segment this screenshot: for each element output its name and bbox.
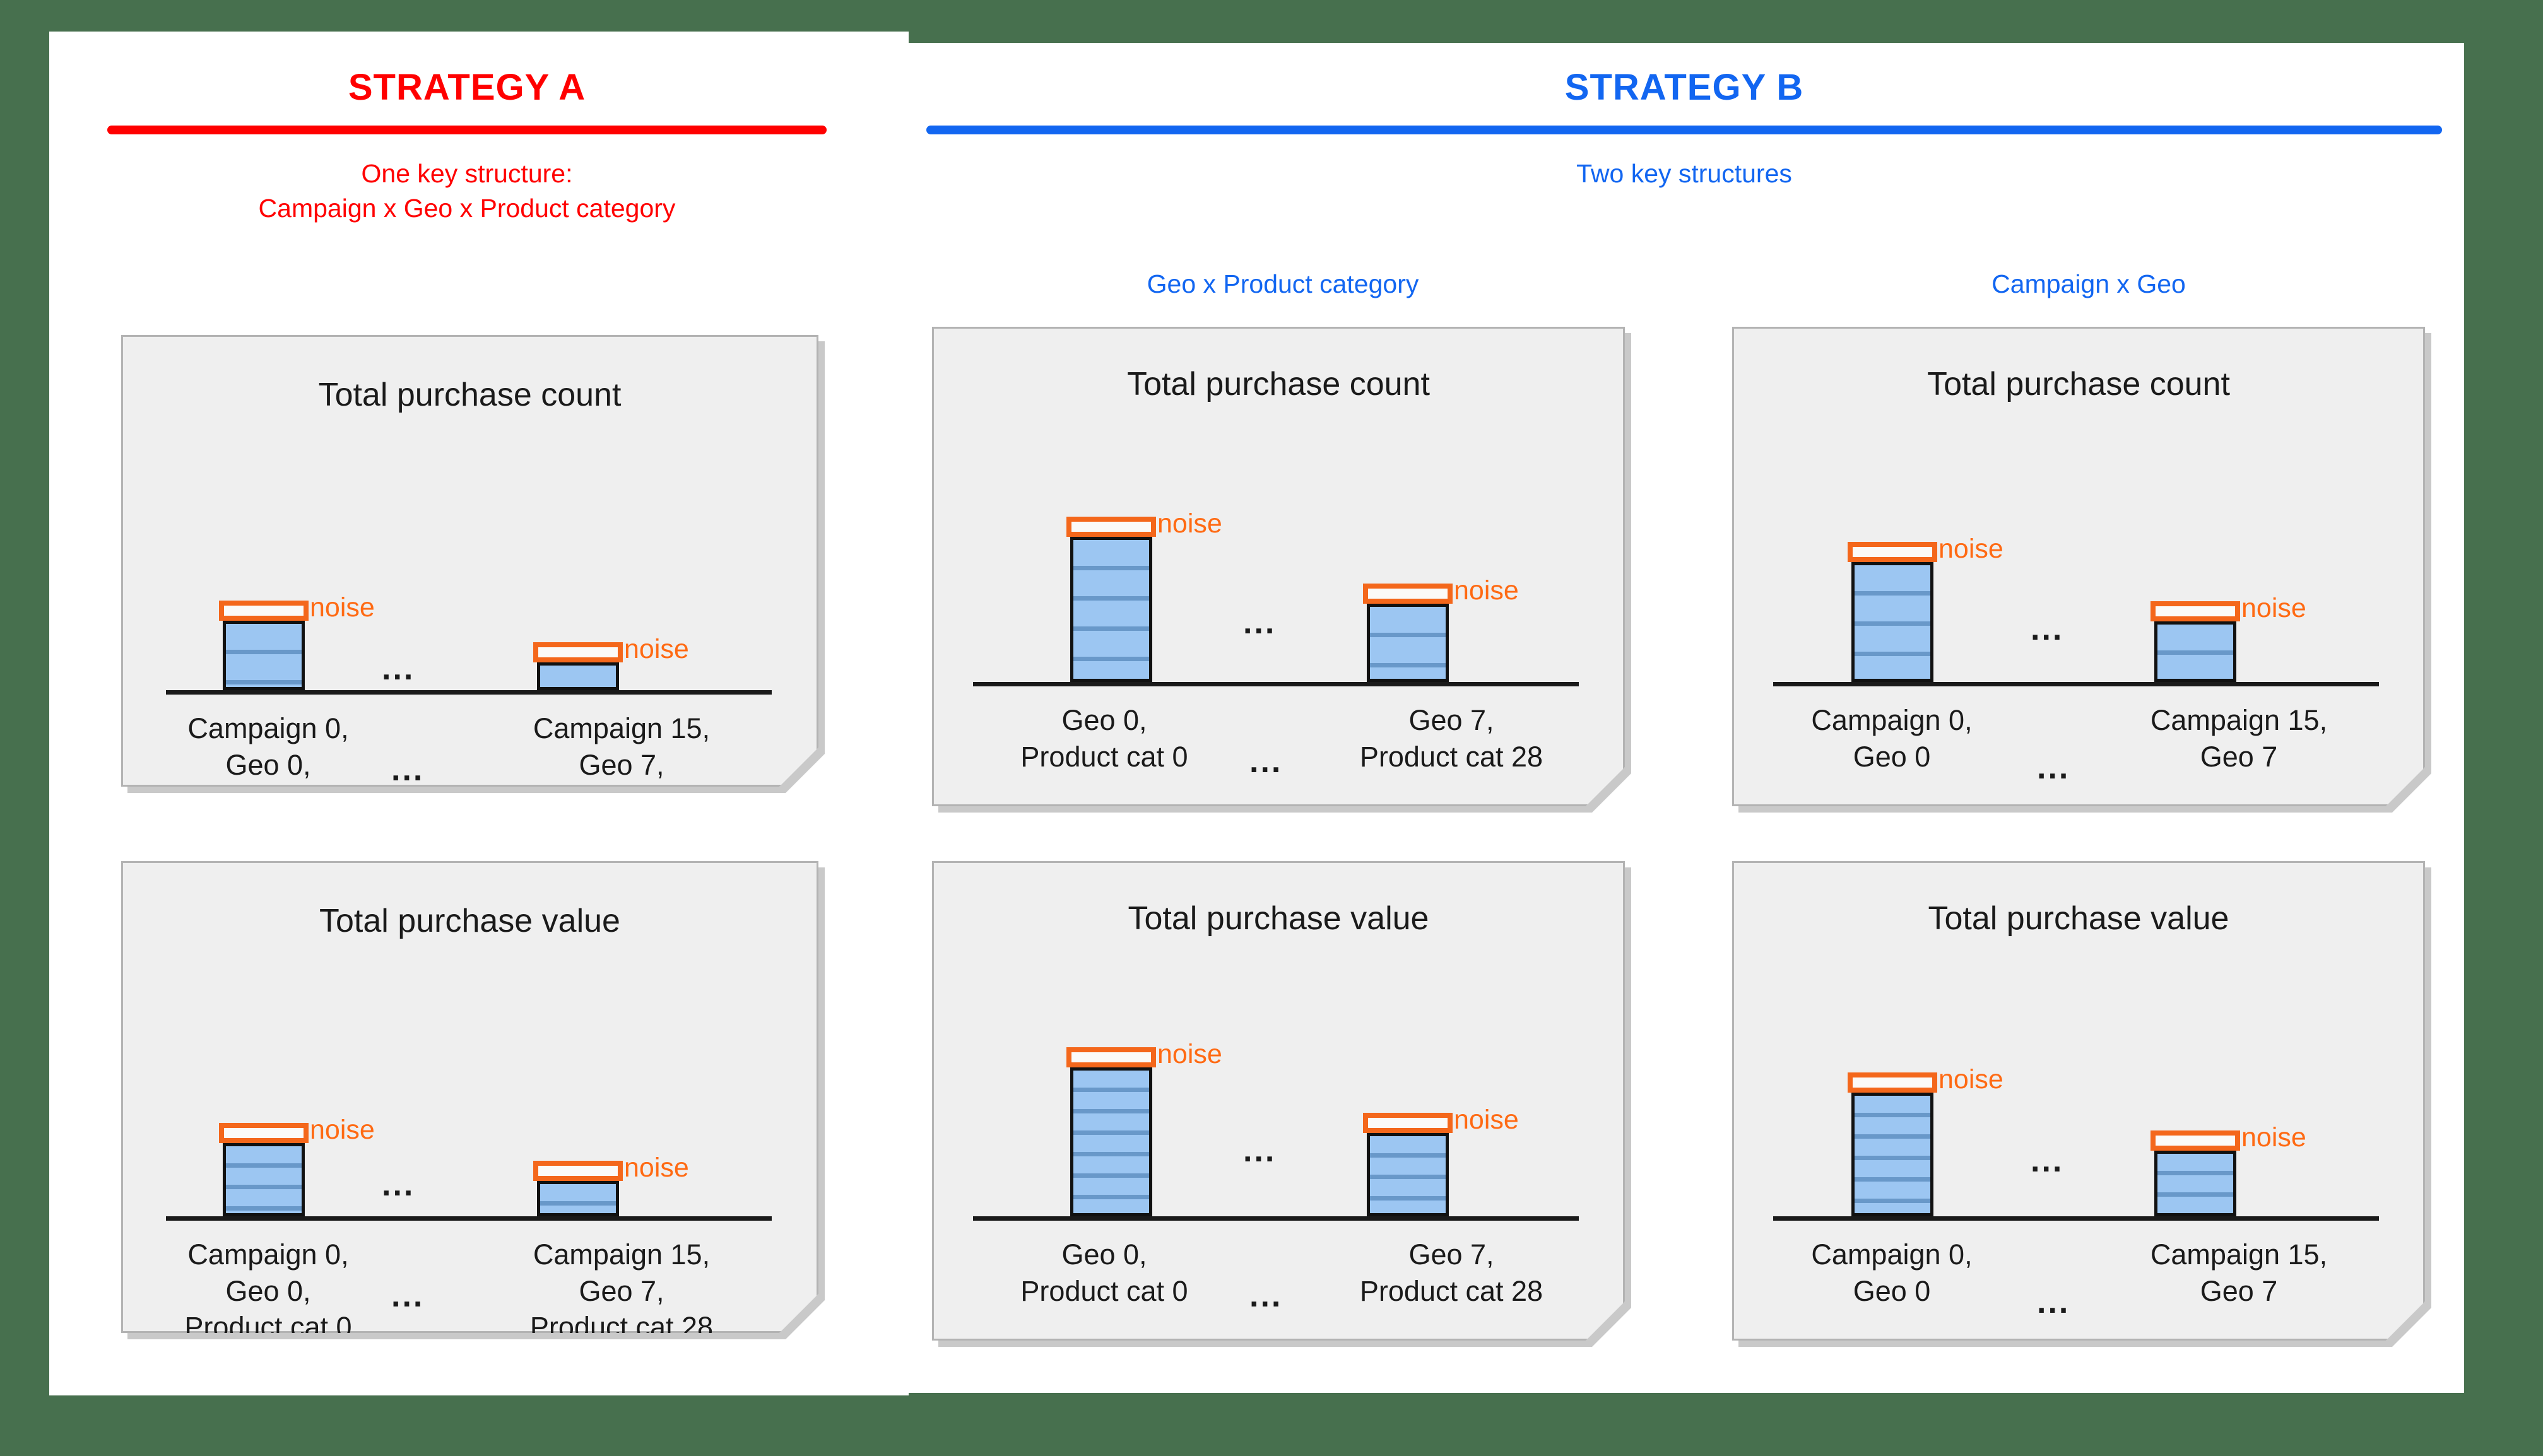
noise-label-right: noise xyxy=(2241,595,2306,622)
tick-label-right: Geo 7, Product cat 28 xyxy=(1306,1236,1596,1309)
card-title: Total purchase count xyxy=(1734,368,2423,401)
strategy-b-divider xyxy=(926,126,2442,134)
noise-label-left: noise xyxy=(1938,536,2003,563)
baseline-axis xyxy=(973,1216,1579,1221)
tick-label-right: Campaign 15, Geo 7 xyxy=(2094,1236,2384,1309)
signal-bar-left xyxy=(1070,1067,1152,1216)
baseline-axis xyxy=(166,1216,772,1221)
card-b2-value: Total purchase value noise noise ... Cam… xyxy=(1732,861,2425,1341)
baseline-axis xyxy=(166,690,772,695)
series-ellipsis: ... xyxy=(382,1168,415,1201)
noise-label-right: noise xyxy=(624,636,689,663)
baseline-axis xyxy=(973,682,1579,686)
tick-label-left: Geo 0, Product cat 0 xyxy=(972,702,1237,775)
strategy-b-title: STRATEGY B xyxy=(926,69,2442,106)
noise-label-right: noise xyxy=(1454,577,1519,604)
signal-bar-right xyxy=(1367,1133,1449,1216)
signal-bar-right xyxy=(1367,604,1449,682)
label-ellipsis: ... xyxy=(2037,1286,2070,1318)
noise-box-left xyxy=(219,601,309,621)
noise-box-left xyxy=(1066,517,1156,537)
tick-label-left: Geo 0, Product cat 0 xyxy=(972,1236,1237,1309)
card-a-value: Total purchase value noise noise ... Cam… xyxy=(121,861,818,1333)
structure-label-campaign-geo: Campaign x Geo xyxy=(1729,271,2448,297)
signal-bar-right xyxy=(2154,621,2236,682)
baseline-axis xyxy=(1773,1216,2379,1221)
card-title: Total purchase value xyxy=(934,902,1623,935)
strategy-a-title: STRATEGY A xyxy=(107,69,827,106)
card-title: Total purchase value xyxy=(1734,902,2423,935)
label-ellipsis: ... xyxy=(1249,1279,1282,1312)
series-ellipsis: ... xyxy=(382,652,415,685)
signal-bar-left xyxy=(1851,1093,1933,1216)
noise-box-right xyxy=(2151,601,2240,621)
noise-label-right: noise xyxy=(1454,1107,1519,1134)
signal-bar-left xyxy=(1070,537,1152,682)
noise-box-right xyxy=(1363,1113,1453,1133)
tick-label-left: Campaign 0, Geo 0 xyxy=(1753,1236,2031,1309)
noise-label-left: noise xyxy=(1157,510,1222,537)
noise-label-left: noise xyxy=(310,1117,375,1144)
noise-box-right xyxy=(1363,584,1453,604)
strategy-a-subtitle: One key structure: Campaign x Geo x Prod… xyxy=(107,156,827,226)
card-a-count: Total purchase count noise noise ... Cam… xyxy=(121,335,818,787)
noise-box-left xyxy=(219,1123,309,1143)
strategy-a-divider xyxy=(107,126,827,134)
label-ellipsis: ... xyxy=(391,1279,424,1312)
tick-label-left: Campaign 0, Geo 0 xyxy=(1753,702,2031,775)
structure-label-geo-product: Geo x Product category xyxy=(926,271,1639,297)
noise-label-right: noise xyxy=(624,1154,689,1182)
baseline-axis xyxy=(1773,682,2379,686)
signal-bar-right xyxy=(2154,1151,2236,1216)
series-ellipsis: ... xyxy=(2031,613,2063,645)
strategy-b-subtitle: Two key structures xyxy=(926,156,2442,191)
noise-label-left: noise xyxy=(1157,1041,1222,1068)
series-ellipsis: ... xyxy=(1243,606,1276,639)
card-title: Total purchase count xyxy=(934,368,1623,401)
signal-bar-left xyxy=(1851,562,1933,682)
tick-label-right: Campaign 15, Geo 7, Product cat 28 xyxy=(476,1236,767,1346)
noise-box-right xyxy=(2151,1130,2240,1151)
card-b2-count: Total purchase count noise noise ... Cam… xyxy=(1732,327,2425,806)
card-title: Total purchase value xyxy=(123,905,817,937)
label-ellipsis: ... xyxy=(391,753,424,786)
signal-bar-left xyxy=(223,1143,305,1216)
card-title: Total purchase count xyxy=(123,379,817,411)
noise-box-left xyxy=(1066,1047,1156,1067)
noise-box-right xyxy=(533,1161,623,1181)
label-ellipsis: ... xyxy=(1249,745,1282,778)
noise-label-left: noise xyxy=(1938,1066,2003,1093)
signal-bar-right xyxy=(537,1181,619,1216)
tick-label-right: Geo 7, Product cat 28 xyxy=(1306,702,1596,775)
tick-label-left: Campaign 0, Geo 0, Product cat 0 xyxy=(136,1236,401,1346)
series-ellipsis: ... xyxy=(2031,1144,2063,1177)
card-b1-value: Total purchase value noise noise ... Geo… xyxy=(932,861,1625,1341)
noise-box-left xyxy=(1848,1072,1937,1093)
noise-label-left: noise xyxy=(310,594,375,621)
card-b1-count: Total purchase count noise noise ... Geo… xyxy=(932,327,1625,806)
noise-box-left xyxy=(1848,542,1937,562)
signal-bar-right xyxy=(537,662,619,690)
signal-bar-left xyxy=(223,621,305,690)
series-ellipsis: ... xyxy=(1243,1134,1276,1167)
noise-box-right xyxy=(533,642,623,662)
label-ellipsis: ... xyxy=(2037,751,2070,784)
tick-label-right: Campaign 15, Geo 7 xyxy=(2094,702,2384,775)
noise-label-right: noise xyxy=(2241,1124,2306,1151)
